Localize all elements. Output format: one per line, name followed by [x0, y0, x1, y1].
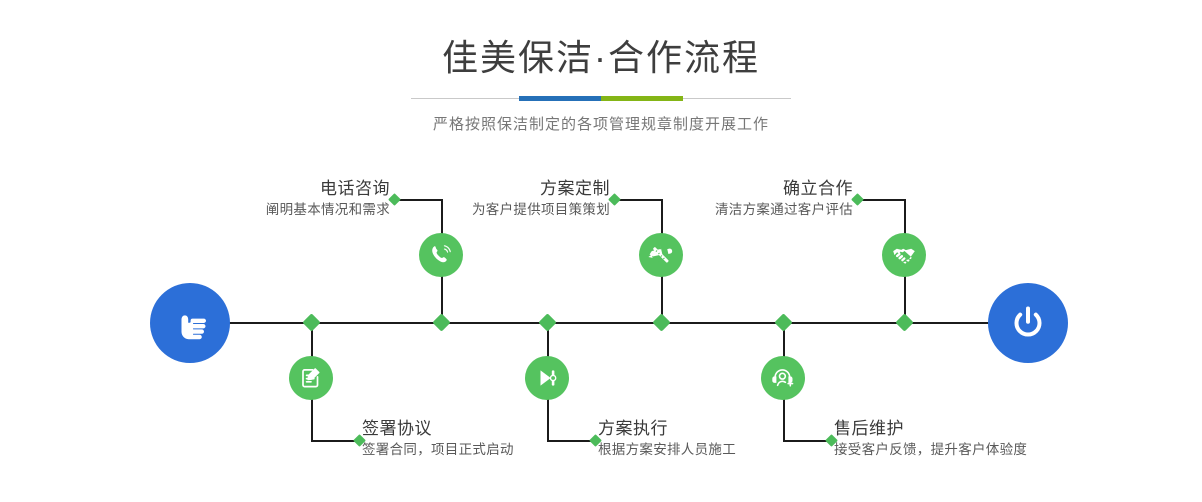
page-header: 佳美保洁·合作流程 严格按照保洁制定的各项管理规章制度开展工作	[0, 0, 1202, 134]
step-3-axis-diamond	[652, 313, 670, 331]
step-6-desc: 接受客户反馈，提升客户体验度	[834, 440, 1154, 460]
step-4-connector-horizontal	[547, 440, 594, 442]
power-icon	[1005, 300, 1051, 346]
infographic-page: 佳美保洁·合作流程 严格按照保洁制定的各项管理规章制度开展工作	[0, 0, 1202, 502]
step-2-connector-horizontal	[311, 440, 358, 442]
step-6-label: 售后维护 接受客户反馈，提升客户体验度	[834, 418, 1154, 460]
step-3-title: 方案定制	[330, 178, 610, 200]
page-title: 佳美保洁·合作流程	[0, 36, 1202, 80]
step-1-icon-bubble	[419, 233, 463, 277]
title-divider	[411, 96, 791, 102]
divider-segment-green	[601, 96, 683, 101]
step-6-axis-diamond	[774, 313, 792, 331]
step-4-icon-bubble	[525, 356, 569, 400]
step-2-axis-diamond	[302, 313, 320, 331]
step-3-label: 方案定制 为客户提供项目策策划	[330, 178, 610, 220]
step-6-icon-bubble	[761, 356, 805, 400]
step-4-axis-diamond	[538, 313, 556, 331]
handshake-icon	[890, 241, 918, 269]
divider-segment-blue	[519, 96, 601, 101]
step-5-axis-diamond	[895, 313, 913, 331]
hand-pointing-icon	[168, 301, 212, 345]
step-3-icon-bubble	[639, 233, 683, 277]
step-3-desc: 为客户提供项目策策划	[330, 200, 610, 220]
step-5-tip-marker	[851, 193, 864, 206]
step-5-title: 确立合作	[573, 178, 853, 200]
headset-support-icon	[770, 365, 796, 391]
step-5-icon-bubble	[882, 233, 926, 277]
step-6-connector-horizontal	[783, 440, 830, 442]
process-flow-diagram: 电话咨询 阐明基本情况和需求	[0, 150, 1202, 502]
step-1-axis-diamond	[432, 313, 450, 331]
document-edit-icon	[298, 365, 324, 391]
step-5-label: 确立合作 清洁方案通过客户评估	[573, 178, 853, 220]
flow-start-node	[150, 283, 230, 363]
step-5-connector-horizontal	[858, 199, 905, 201]
phone-ring-icon	[428, 242, 454, 268]
pencil-ruler-icon	[648, 242, 674, 268]
step-5-desc: 清洁方案通过客户评估	[573, 200, 853, 220]
flow-end-node	[988, 283, 1068, 363]
step-2-icon-bubble	[289, 356, 333, 400]
play-to-end-icon	[534, 365, 560, 391]
step-6-title: 售后维护	[834, 418, 1154, 440]
page-subtitle: 严格按照保洁制定的各项管理规章制度开展工作	[0, 113, 1202, 134]
